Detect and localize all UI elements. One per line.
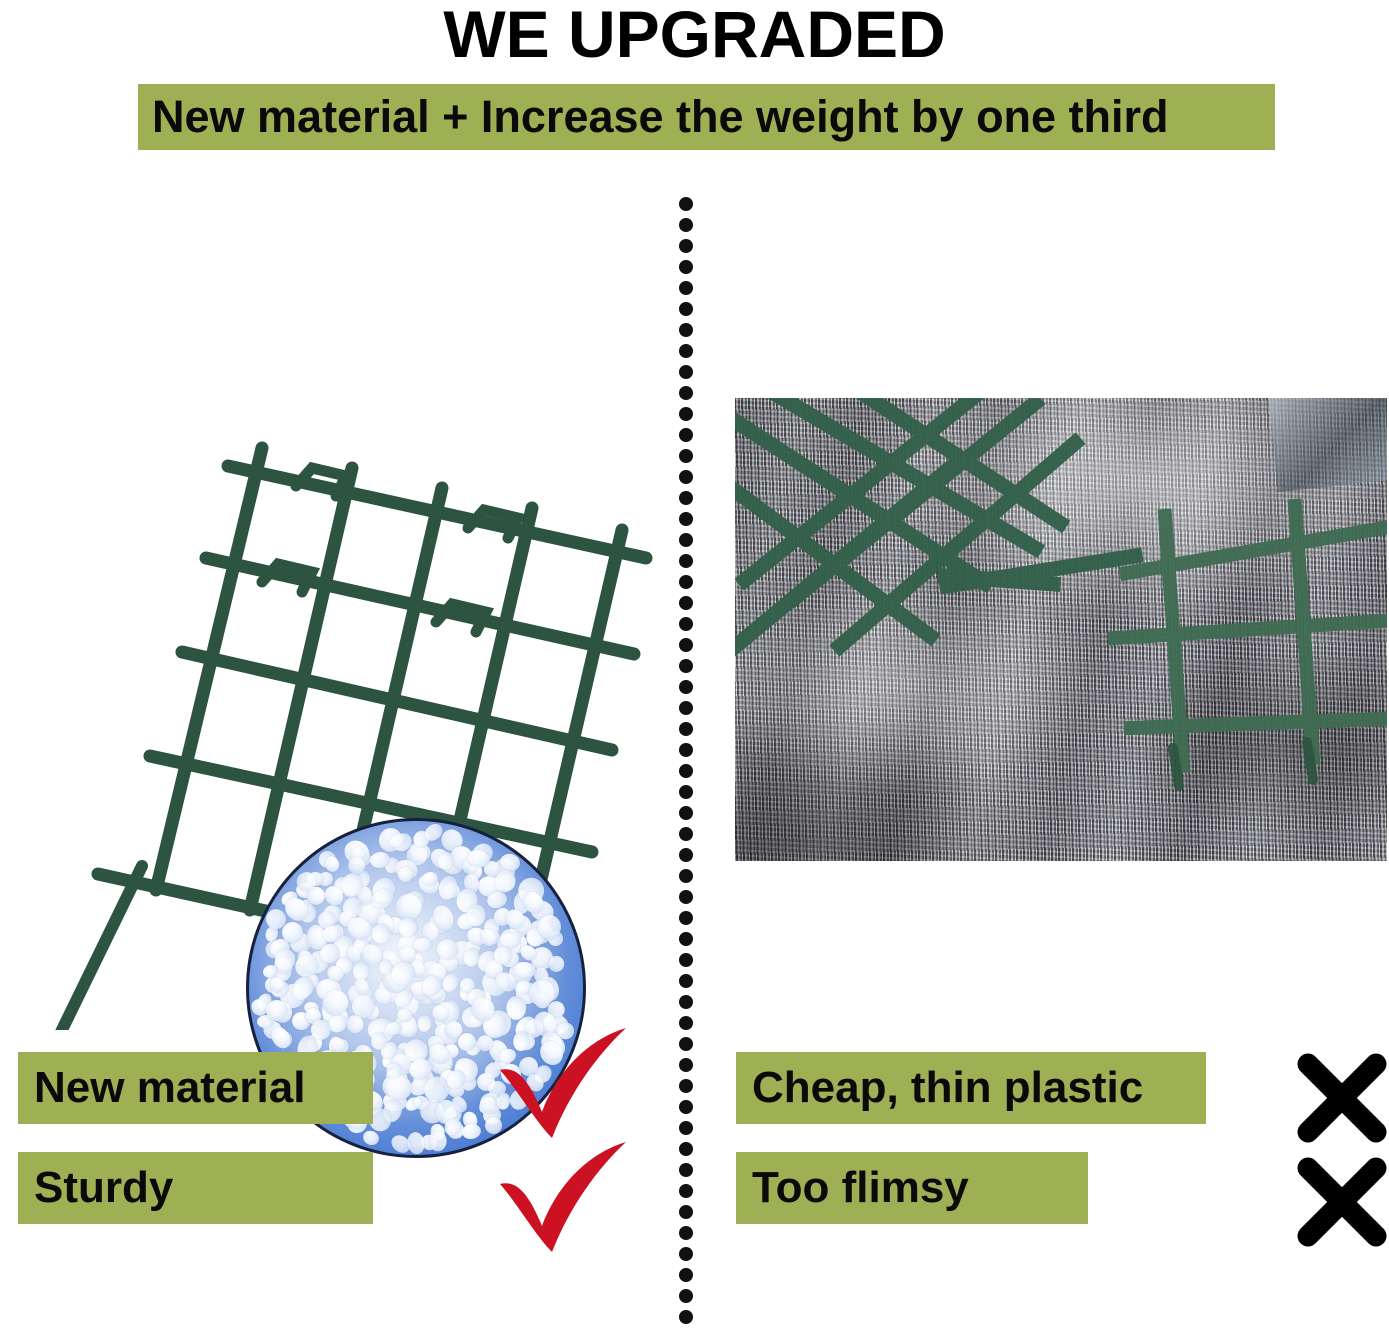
divider-dot <box>679 449 693 463</box>
claim-label: New material <box>34 1063 305 1113</box>
divider-dot <box>679 386 693 400</box>
divider-dot <box>679 491 693 505</box>
claim-label: Too flimsy <box>752 1163 969 1213</box>
divider-dot <box>679 764 693 778</box>
divider-dot <box>679 218 693 232</box>
divider-dot <box>679 785 693 799</box>
divider-dot <box>679 197 693 211</box>
claim-label: Sturdy <box>34 1163 173 1213</box>
divider-dot <box>679 1121 693 1135</box>
divider-dot <box>679 1184 693 1198</box>
claim-chip: Cheap, thin plastic <box>736 1052 1206 1124</box>
divider-dot <box>679 302 693 316</box>
divider-dot <box>679 1058 693 1072</box>
divider-dot <box>679 932 693 946</box>
claim-chip: New material <box>18 1052 373 1124</box>
divider-dot <box>679 617 693 631</box>
cross-icon <box>1292 1152 1389 1252</box>
divider-dot <box>679 1226 693 1240</box>
divider-dot <box>679 911 693 925</box>
divider-dot <box>679 1205 693 1219</box>
divider-dot <box>679 239 693 253</box>
divider-dot <box>679 1016 693 1030</box>
headline-banner: New material + Increase the weight by on… <box>138 84 1275 150</box>
claim-chip: Sturdy <box>18 1152 373 1224</box>
check-icon <box>494 1026 634 1144</box>
divider-dot <box>679 365 693 379</box>
claim-row-right-2: Too flimsy <box>736 1152 1088 1224</box>
divider-dot <box>679 1310 693 1324</box>
divider-dot <box>679 806 693 820</box>
divider-dot <box>679 533 693 547</box>
divider-dot <box>679 1100 693 1114</box>
divider-dot <box>679 995 693 1009</box>
divider-dot <box>679 953 693 967</box>
divider-dot <box>679 659 693 673</box>
divider-dot <box>679 1079 693 1093</box>
cross-icon <box>1292 1048 1389 1148</box>
divider-dot <box>679 827 693 841</box>
divider-dot <box>679 1247 693 1261</box>
plastic-pellet <box>360 1128 381 1147</box>
divider-dot <box>679 512 693 526</box>
divider-dot <box>679 407 693 421</box>
claim-chip: Too flimsy <box>736 1152 1088 1224</box>
check-icon <box>494 1140 634 1258</box>
divider-dot <box>679 1142 693 1156</box>
divider-dot <box>679 890 693 904</box>
divider-dot <box>679 470 693 484</box>
divider-dot <box>679 1268 693 1282</box>
plastic-pellet <box>417 1014 432 1032</box>
divider-dot <box>679 1037 693 1051</box>
divider-dot <box>679 554 693 568</box>
divider-dot <box>679 680 693 694</box>
infographic-root: WE UPGRADED New material + Increase the … <box>0 0 1389 1332</box>
headline-banner-text: New material + Increase the weight by on… <box>152 92 1169 142</box>
claim-row-left-2: Sturdy <box>18 1152 373 1224</box>
plastic-pellet <box>546 955 566 975</box>
divider-dot <box>679 575 693 589</box>
dotted-vertical-divider <box>679 197 694 1332</box>
divider-dot <box>679 281 693 295</box>
divider-dot <box>679 260 693 274</box>
plastic-pellet <box>467 905 486 927</box>
thin-trellis-pieces <box>735 398 1387 861</box>
claim-row-right-1: Cheap, thin plastic <box>736 1052 1206 1124</box>
divider-dot <box>679 638 693 652</box>
divider-dot <box>679 1289 693 1303</box>
left-panel-upgraded <box>0 190 672 1030</box>
competitor-product-photo <box>735 398 1387 861</box>
plastic-pellet <box>406 1131 426 1156</box>
divider-dot <box>679 869 693 883</box>
plastic-pellet <box>386 1076 412 1101</box>
divider-dot <box>679 344 693 358</box>
divider-dot <box>679 428 693 442</box>
divider-dot <box>679 722 693 736</box>
plastic-pellet <box>371 923 391 944</box>
divider-dot <box>679 743 693 757</box>
divider-dot <box>679 848 693 862</box>
claim-label: Cheap, thin plastic <box>752 1063 1143 1113</box>
divider-dot <box>679 1163 693 1177</box>
plastic-pellet <box>413 938 432 953</box>
divider-dot <box>679 701 693 715</box>
divider-dot <box>679 974 693 988</box>
divider-dot <box>679 323 693 337</box>
page-title: WE UPGRADED <box>0 0 1389 70</box>
claim-row-left-1: New material <box>18 1052 373 1124</box>
divider-dot <box>679 596 693 610</box>
